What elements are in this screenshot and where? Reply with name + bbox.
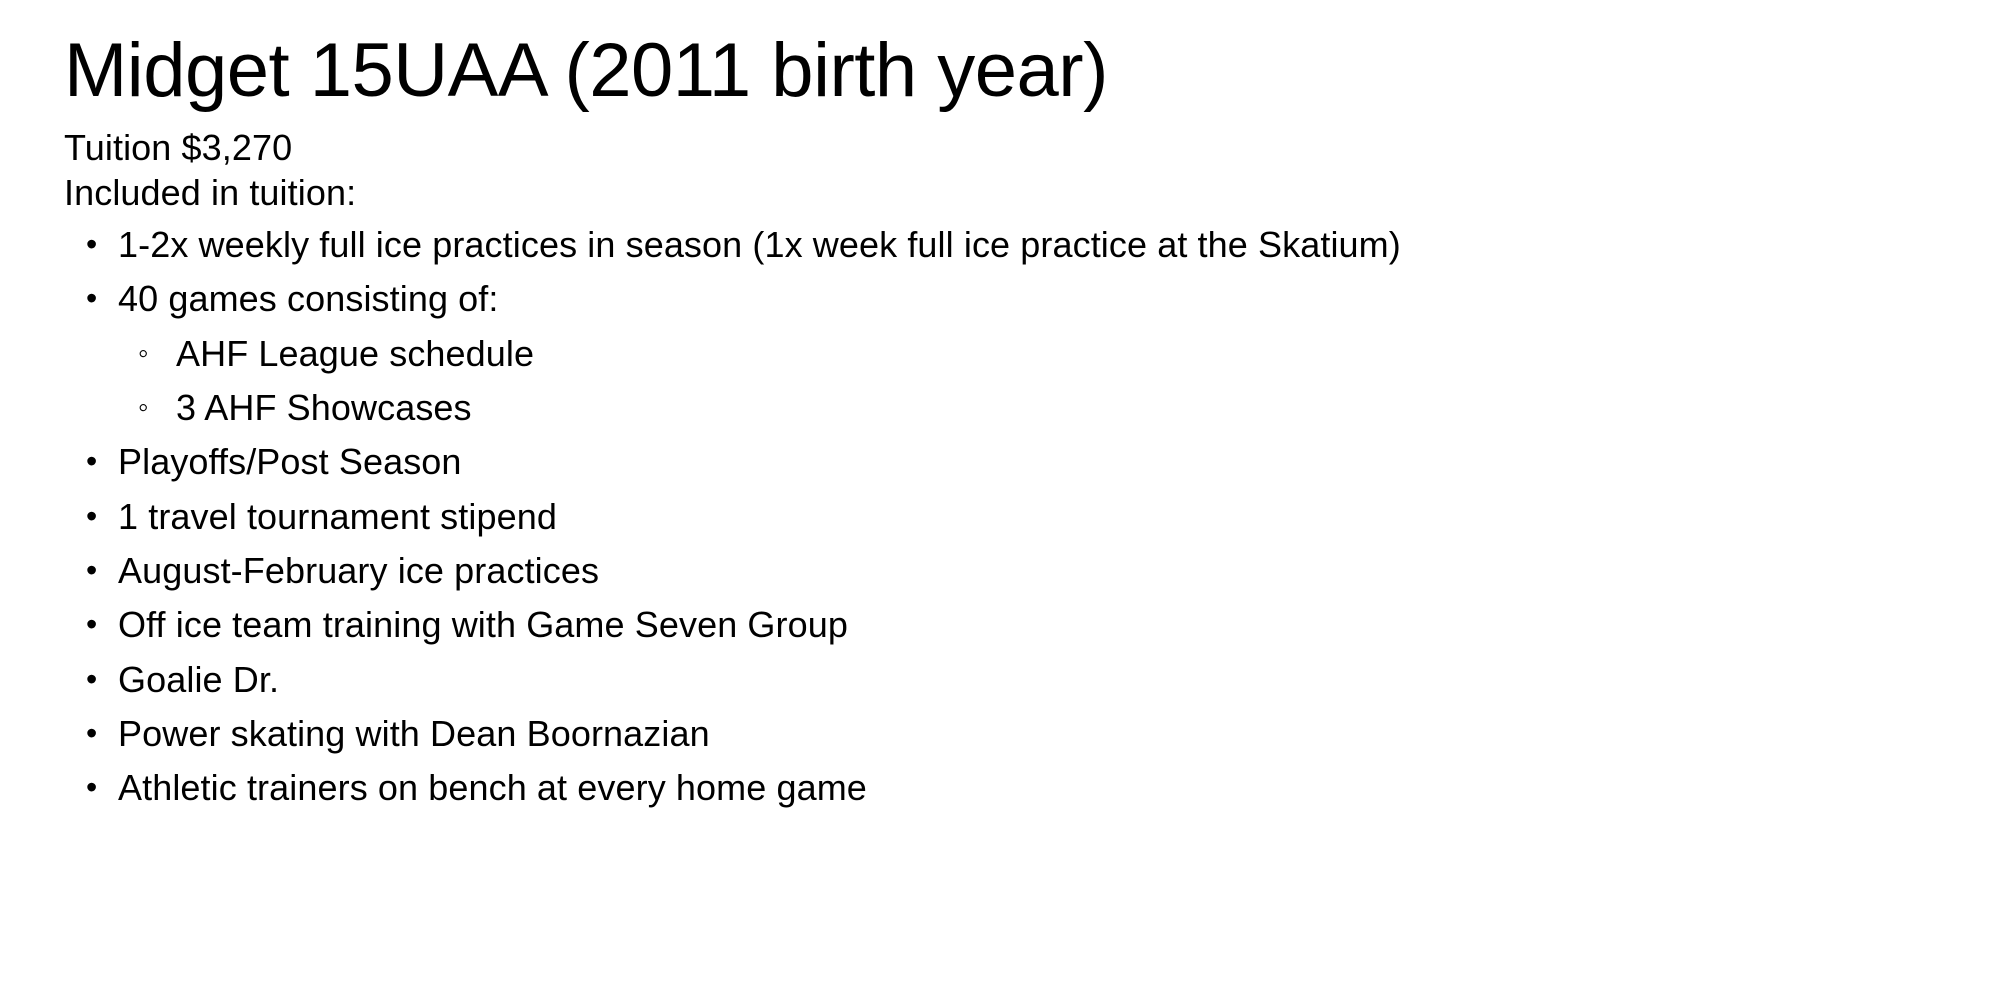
list-item-label: 1 travel tournament stipend [118,496,557,537]
included-in-tuition-heading: Included in tuition: [64,170,1936,215]
list-item-label: Athletic trainers on bench at every home… [118,767,867,808]
list-item-label: AHF League schedule [176,333,534,374]
disc-bullet-icon: • [86,222,106,267]
list-item: • Playoffs/Post Season [64,439,1936,484]
included-items-list: • 1-2x weekly full ice practices in seas… [64,222,1936,811]
disc-bullet-icon: • [86,602,106,647]
list-item-label: 40 games consisting of: [118,278,499,319]
games-sub-list: ◦ AHF League schedule ◦ 3 AHF Showcases [118,331,1936,431]
disc-bullet-icon: • [86,765,106,810]
slide-canvas: Midget 15UAA (2011 birth year) Tuition $… [0,0,2000,1000]
list-item: • 1-2x weekly full ice practices in seas… [64,222,1936,267]
list-item-label: 1-2x weekly full ice practices in season… [118,224,1401,265]
disc-bullet-icon: • [86,711,106,756]
disc-bullet-icon: • [86,494,106,539]
list-item: • Off ice team training with Game Seven … [64,602,1936,647]
circle-bullet-icon: ◦ [138,331,160,376]
list-item: ◦ AHF League schedule [118,331,1936,376]
list-item-label: Power skating with Dean Boornazian [118,713,710,754]
circle-bullet-icon: ◦ [138,385,160,430]
list-item: • Power skating with Dean Boornazian [64,711,1936,756]
list-item-label: Goalie Dr. [118,659,279,700]
page-title: Midget 15UAA (2011 birth year) [64,0,1936,113]
list-item: • 1 travel tournament stipend [64,494,1936,539]
list-item-label: 3 AHF Showcases [176,387,472,428]
list-item: • August-February ice practices [64,548,1936,593]
list-item-label: August-February ice practices [118,550,599,591]
tuition-amount-line: Tuition $3,270 [64,125,1936,170]
list-item-label: Playoffs/Post Season [118,441,462,482]
list-item: ◦ 3 AHF Showcases [118,385,1936,430]
disc-bullet-icon: • [86,276,106,321]
disc-bullet-icon: • [86,548,106,593]
disc-bullet-icon: • [86,657,106,702]
list-item-label: Off ice team training with Game Seven Gr… [118,604,848,645]
list-item: • Athletic trainers on bench at every ho… [64,765,1936,810]
list-item: • 40 games consisting of: ◦ AHF League s… [64,276,1936,430]
list-item: • Goalie Dr. [64,657,1936,702]
disc-bullet-icon: • [86,439,106,484]
